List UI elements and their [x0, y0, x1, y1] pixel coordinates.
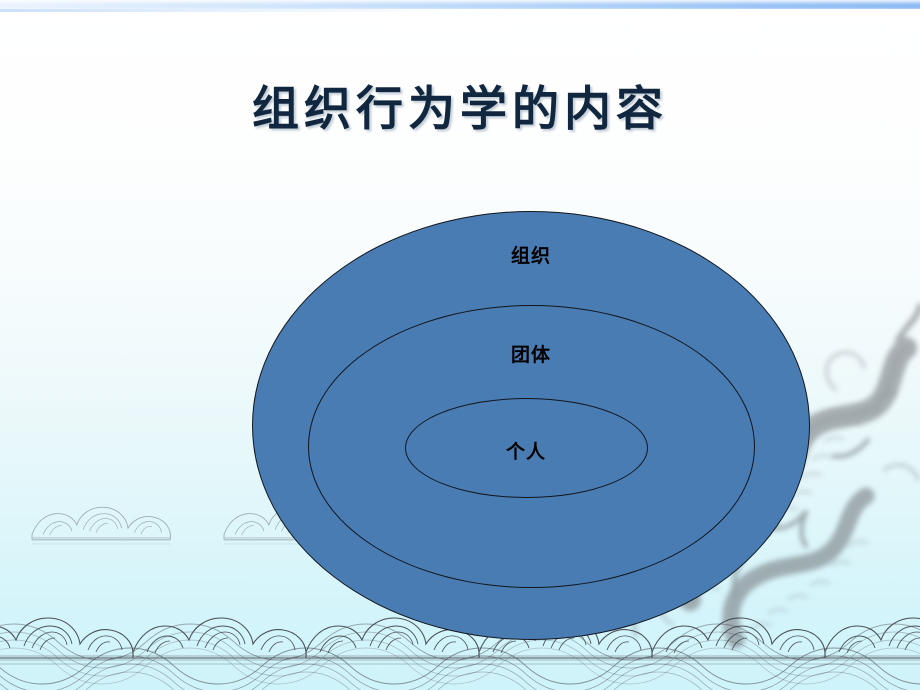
slide-canvas: 组织行为学的内容 组织 团体 个人: [0, 0, 920, 690]
concentric-ellipse-diagram: 组织 团体 个人: [0, 0, 920, 690]
ring-label-organization: 组织: [401, 241, 661, 268]
ring-label-individual: 个人: [396, 437, 656, 464]
ring-label-group: 团体: [401, 340, 661, 367]
